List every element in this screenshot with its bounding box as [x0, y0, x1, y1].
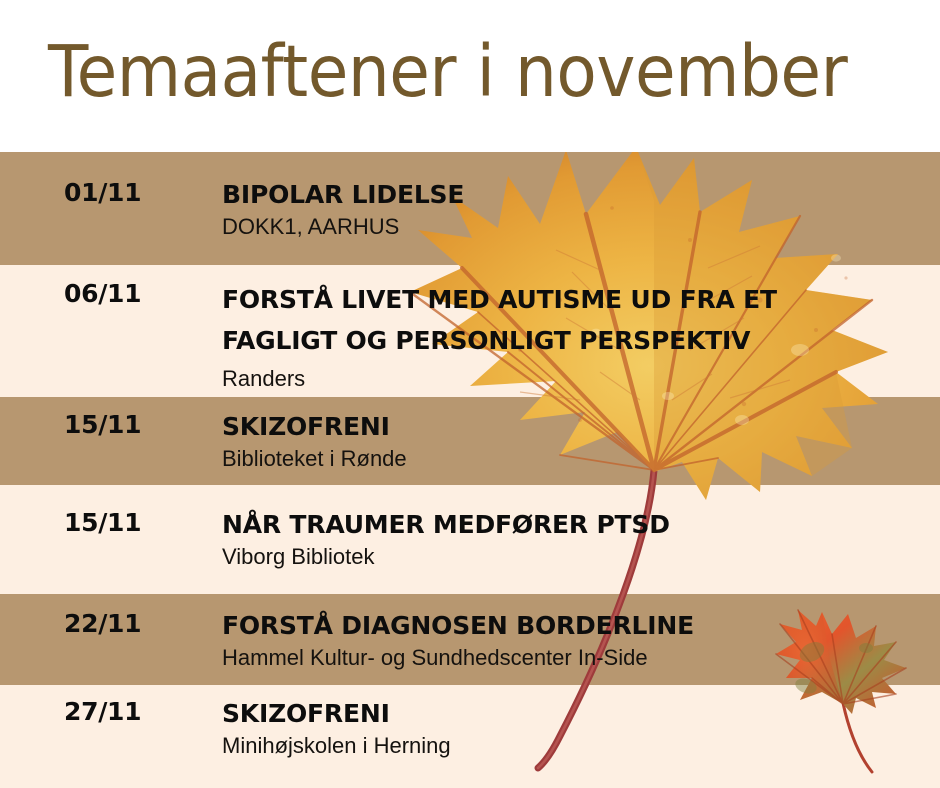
- event-body: SKIZOFRENI Biblioteket i Rønde: [222, 410, 922, 473]
- event-title: NÅR TRAUMER MEDFØRER PTSD: [222, 508, 922, 541]
- event-venue: Randers: [222, 365, 922, 393]
- event-title: FORSTÅ LIVET MED AUTISME UD FRA ET FAGLI…: [222, 279, 922, 361]
- event-venue: Biblioteket i Rønde: [222, 445, 922, 473]
- event-body: SKIZOFRENI Minihøjskolen i Herning: [222, 697, 922, 760]
- event-body: NÅR TRAUMER MEDFØRER PTSD Viborg Bibliot…: [222, 508, 922, 571]
- event-title: BIPOLAR LIDELSE: [222, 178, 922, 211]
- event-body: BIPOLAR LIDELSE DOKK1, AARHUS: [222, 178, 922, 241]
- event-venue: Hammel Kultur- og Sundhedscenter In-Side: [222, 644, 922, 672]
- event-title: SKIZOFRENI: [222, 410, 922, 443]
- event-body: FORSTÅ LIVET MED AUTISME UD FRA ET FAGLI…: [222, 279, 922, 393]
- event-date: 15/11: [64, 508, 204, 538]
- event-venue: Minihøjskolen i Herning: [222, 732, 922, 760]
- event-venue: Viborg Bibliotek: [222, 543, 922, 571]
- event-title: FORSTÅ DIAGNOSEN BORDERLINE: [222, 609, 922, 642]
- event-date: 06/11: [64, 279, 204, 309]
- event-venue: DOKK1, AARHUS: [222, 213, 922, 241]
- header-band: Temaaftener i november: [0, 0, 940, 152]
- event-date: 27/11: [64, 697, 204, 727]
- event-date: 01/11: [64, 178, 204, 208]
- page-title: Temaaftener i november: [48, 31, 847, 113]
- event-date: 15/11: [64, 410, 204, 440]
- event-date: 22/11: [64, 609, 204, 639]
- event-body: FORSTÅ DIAGNOSEN BORDERLINE Hammel Kultu…: [222, 609, 922, 672]
- poster-canvas: Temaaftener i november 01/11 BIPOLAR LID…: [0, 0, 940, 788]
- event-title: SKIZOFRENI: [222, 697, 922, 730]
